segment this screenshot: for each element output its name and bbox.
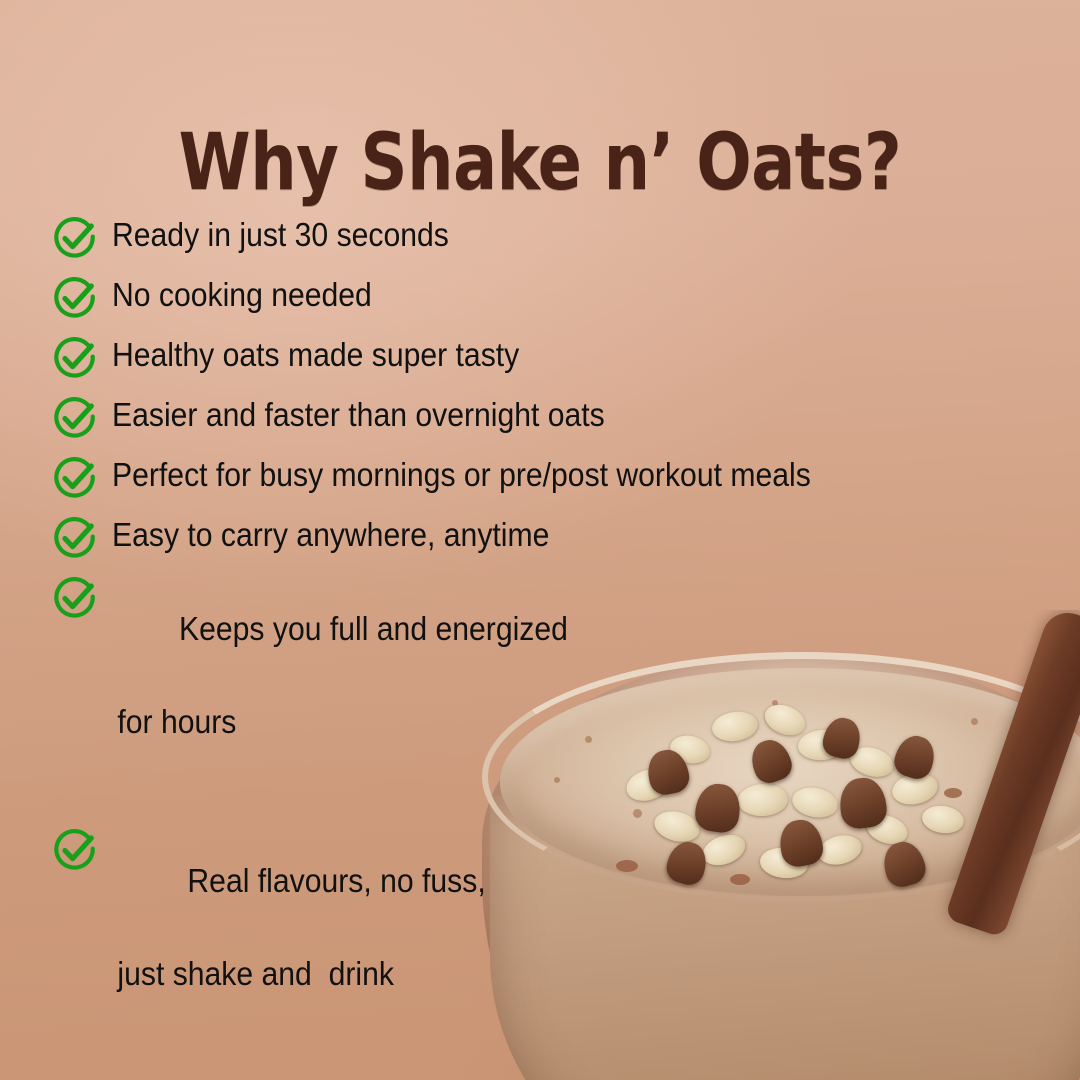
- list-item-label-line2: for hours: [117, 706, 568, 740]
- list-item: Healthy oats made super tasty: [52, 334, 1042, 381]
- check-circle-icon: [52, 575, 98, 621]
- list-item-label: Perfect for busy mornings or pre/post wo…: [112, 454, 811, 493]
- list-item-label-line2: just shake and drink: [117, 958, 485, 992]
- check-circle-icon: [52, 275, 98, 321]
- list-item-label: No cooking needed: [112, 274, 372, 313]
- list-item-label: Easy to carry anywhere, anytime: [112, 514, 549, 553]
- list-item-label: Ready in just 30 seconds: [112, 214, 449, 253]
- check-circle-icon: [52, 395, 98, 441]
- page-title: Why Shake n’ Oats?: [38, 124, 1042, 202]
- list-item: Easy to carry anywhere, anytime: [52, 514, 1042, 561]
- check-circle-icon: [52, 455, 98, 501]
- list-item-label-line1: Keeps you full and energized: [179, 611, 568, 648]
- list-item: Perfect for busy mornings or pre/post wo…: [52, 454, 1042, 501]
- poster-root: Why Shake n’ Oats? Ready in just 30 seco…: [0, 0, 1080, 1080]
- check-circle-icon: [52, 215, 98, 261]
- list-item: Keeps you full and energized for hours: [52, 574, 1042, 806]
- list-item: Easier and faster than overnight oats: [52, 394, 1042, 441]
- check-circle-icon: [52, 335, 98, 381]
- list-item: Ready in just 30 seconds: [52, 214, 1042, 261]
- benefits-list: Ready in just 30 seconds No cooking need…: [52, 214, 1042, 1078]
- check-circle-icon: [52, 827, 98, 873]
- check-circle-icon: [52, 515, 98, 561]
- list-item-label: Keeps you full and energized for hours: [112, 574, 568, 806]
- list-item: Real flavours, no fuss, just shake and d…: [52, 826, 1042, 1058]
- list-item-label: Real flavours, no fuss, just shake and d…: [112, 826, 486, 1058]
- list-item-label-line1: Real flavours, no fuss,: [179, 863, 486, 900]
- list-item-label: Easier and faster than overnight oats: [112, 394, 605, 433]
- list-item-label: Healthy oats made super tasty: [112, 334, 519, 373]
- list-item: No cooking needed: [52, 274, 1042, 321]
